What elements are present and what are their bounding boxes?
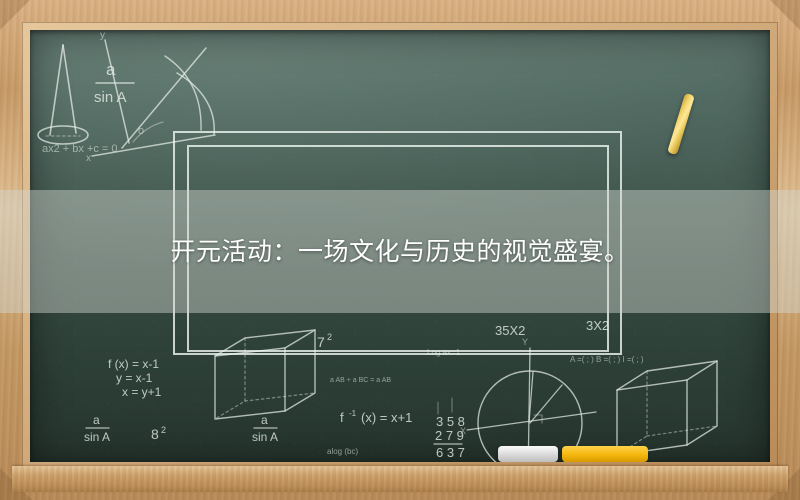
faint-vector-identity-label: a AB + a BC = a AB — [330, 377, 391, 384]
eight-squared-label: 8 2 — [151, 425, 166, 442]
cube-right-drawing — [617, 361, 717, 455]
chalkboard-surface: a sin A ax2 + bx +c = 0 y x o — [30, 30, 770, 462]
svg-text:sin A: sin A — [252, 430, 278, 444]
svg-text:2: 2 — [161, 425, 166, 435]
svg-text:6 3 7: 6 3 7 — [436, 445, 465, 460]
svg-text:(x) = x+1: (x) = x+1 — [361, 410, 412, 425]
svg-text:f (x) = x-1: f (x) = x-1 — [108, 357, 159, 371]
svg-text:sin A: sin A — [84, 430, 110, 444]
svg-text:a: a — [93, 413, 100, 427]
svg-text:y: y — [100, 30, 105, 41]
svg-text:o: o — [138, 125, 144, 137]
cone-drawing — [38, 45, 88, 144]
svg-text:x = y+1: x = y+1 — [122, 385, 162, 399]
matrix-notation-label: A =( ; ) B =( ; ) I =( ; ) — [570, 355, 644, 364]
inverse-function-label: f -1 (x) = x+1 — [340, 409, 412, 425]
svg-text:sin A: sin A — [94, 89, 127, 106]
sine-rule-fraction-under-cube: a sin A — [252, 413, 278, 444]
yellow-chalk-piece — [562, 446, 648, 462]
svg-text:y = x-1: y = x-1 — [116, 371, 153, 385]
svg-text:f: f — [340, 410, 344, 425]
svg-text:x: x — [86, 153, 91, 164]
svg-text:a: a — [261, 413, 268, 427]
chalkboard-banner-image: a sin A ax2 + bx +c = 0 y x o — [0, 0, 800, 500]
svg-text:-1: -1 — [349, 409, 357, 418]
sine-rule-fraction-top: a sin A — [94, 60, 134, 106]
log-bc-label: alog (bc) — [327, 447, 358, 456]
function-equations-group: f (x) = x-1 y = x-1 x = y+1 — [108, 357, 162, 399]
decorative-inner-rectangle — [187, 145, 609, 352]
svg-text:X: X — [460, 426, 466, 436]
svg-text:8: 8 — [151, 426, 159, 442]
sine-rule-fraction-bottom-left: a sin A — [84, 413, 110, 444]
chalk-tray-ledge — [12, 466, 788, 492]
white-chalk-piece — [498, 446, 558, 462]
